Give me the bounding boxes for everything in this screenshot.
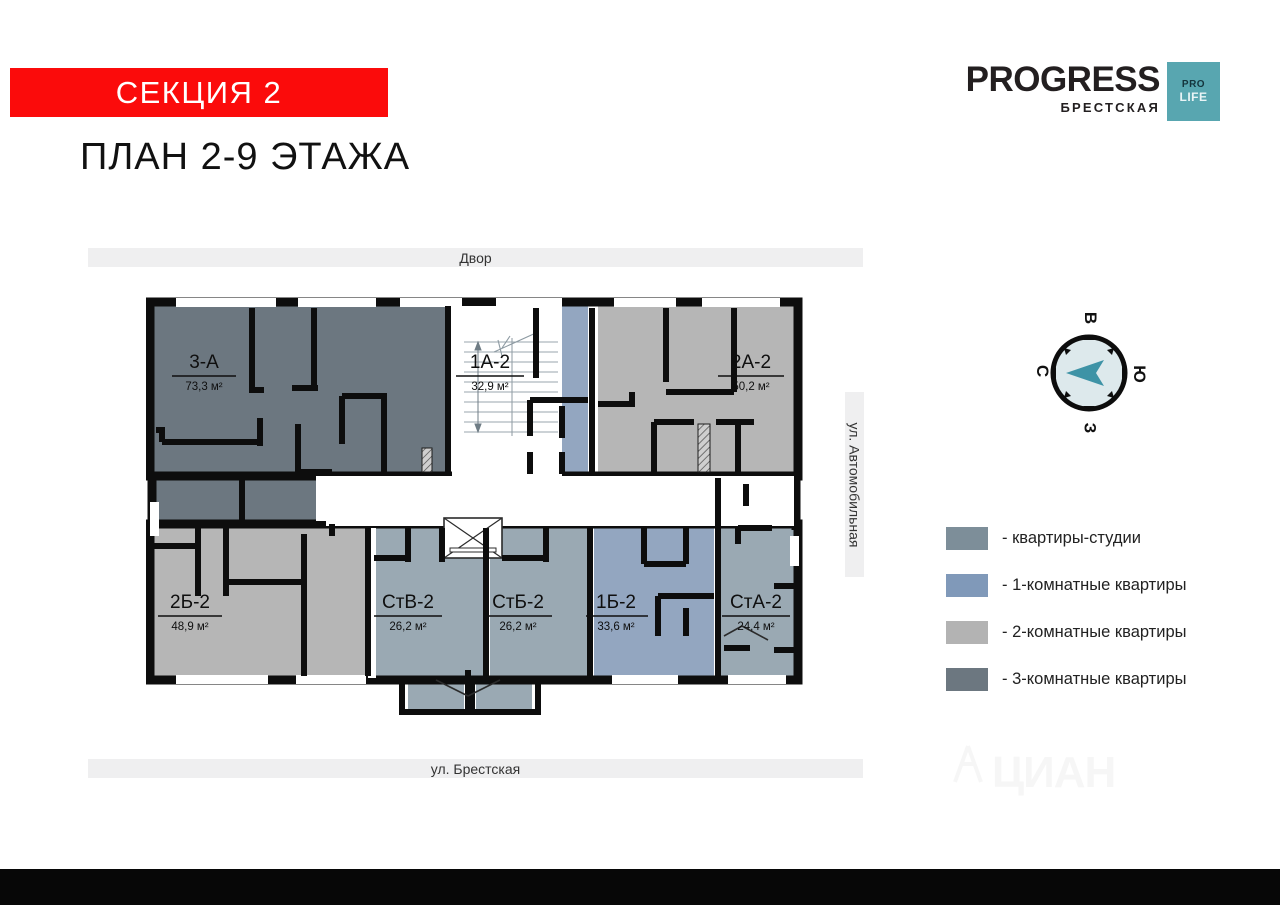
- page-title: ПЛАН 2-9 ЭТАЖА: [80, 136, 410, 179]
- brand-logo: PROGRESS БРЕСТСКАЯ PRO LIFE: [952, 62, 1220, 128]
- apartment-area-1b2: 33,6 м²: [597, 621, 634, 633]
- street-label-avtomobilnaya: ул. Автомобильная: [845, 392, 864, 577]
- bottom-bar: [0, 869, 1280, 905]
- apartment-area-2a2: 50,2 м²: [732, 381, 769, 393]
- legend-label-studio: - квартиры-студии: [1002, 529, 1141, 548]
- shaft-2a2: [698, 424, 710, 472]
- apartment-code-1a2: 1А-2: [470, 352, 510, 373]
- logo-subtitle: БРЕСТСКАЯ: [952, 100, 1160, 116]
- apartment-area-3a: 73,3 м²: [185, 381, 222, 393]
- logo-pro-life-badge: PRO LIFE: [1167, 62, 1220, 121]
- legend-swatch-studio: [946, 527, 988, 550]
- apartment-code-2a2: 2А-2: [731, 352, 771, 373]
- logo-badge-line2: LIFE: [1180, 91, 1208, 104]
- legend-swatch-three-room: [946, 668, 988, 691]
- legend-swatch-two-room: [946, 621, 988, 644]
- apartment-code-sta2: СтА-2: [730, 592, 782, 613]
- window-top-4: [496, 298, 562, 307]
- section-badge: СЕКЦИЯ 2: [10, 68, 388, 117]
- street-label-courtyard-text: Двор: [459, 250, 491, 266]
- compass-label-north: С: [1032, 365, 1052, 377]
- shaft-core: [422, 448, 432, 472]
- watermark: ЦИАН: [948, 742, 1158, 798]
- apartment-area-2b2: 48,9 м²: [171, 621, 208, 633]
- window-bot-1: [176, 675, 268, 684]
- apartment-area-sta2: 24,4 м²: [737, 621, 774, 633]
- window-bot-3: [612, 675, 678, 684]
- street-label-avtomobilnaya-text: ул. Автомобильная: [847, 422, 863, 547]
- legend-swatch-one-room: [946, 574, 988, 597]
- window-right-1: [790, 536, 799, 566]
- window-left-1: [150, 502, 159, 536]
- apartment-code-1b2: 1Б-2: [596, 592, 636, 613]
- apartment-fill-3a-b: [384, 306, 448, 472]
- window-top-5: [614, 298, 676, 307]
- floor-plan: 3-А 73,3 м² 1А-2 32,9 м² 2А-2 50,2 м² 2Б…: [146, 296, 806, 716]
- section-badge-label: СЕКЦИЯ 2: [116, 75, 283, 111]
- elevator-shaft: [444, 518, 502, 558]
- legend-item-two-room: - 2-комнатные квартиры: [946, 609, 1246, 656]
- compass-label-west: З: [1079, 423, 1099, 434]
- window-top-3: [400, 298, 462, 307]
- apartment-code-stv2: СтВ-2: [382, 592, 434, 613]
- window-top-6: [702, 298, 780, 307]
- floor-plan-svg: 3-А 73,3 м² 1А-2 32,9 м² 2А-2 50,2 м² 2Б…: [146, 296, 806, 716]
- apartment-area-stv2: 26,2 м²: [389, 621, 426, 633]
- watermark-text: ЦИАН: [992, 748, 1115, 798]
- compass-rose: В Ю З С: [1022, 306, 1157, 441]
- window-top-1: [176, 298, 276, 307]
- logo-text-block: PROGRESS БРЕСТСКАЯ: [952, 62, 1160, 116]
- apartment-area-1a2: 32,9 м²: [471, 381, 508, 393]
- street-label-brestskaya: ул. Брестская: [88, 759, 863, 778]
- compass-label-east: В: [1080, 312, 1100, 324]
- legend-label-three-room: - 3-комнатные квартиры: [1002, 670, 1187, 689]
- legend-item-one-room: - 1-комнатные квартиры: [946, 562, 1246, 609]
- apartment-code-stb2: СтБ-2: [492, 592, 544, 613]
- compass-label-south: Ю: [1129, 365, 1149, 383]
- watermark-icon: [948, 742, 988, 788]
- apartment-code-2b2: 2Б-2: [170, 592, 210, 613]
- legend-item-three-room: - 3-комнатные квартиры: [946, 656, 1246, 703]
- legend-label-two-room: - 2-комнатные квартиры: [1002, 623, 1187, 642]
- apartment-area-stb2: 26,2 м²: [499, 621, 536, 633]
- legend-label-one-room: - 1-комнатные квартиры: [1002, 576, 1187, 595]
- logo-brand: PROGRESS: [952, 62, 1160, 98]
- corridor-void: [316, 476, 794, 526]
- window-top-2: [298, 298, 376, 307]
- street-label-brestskaya-text: ул. Брестская: [431, 761, 520, 777]
- street-label-courtyard: Двор: [88, 248, 863, 267]
- window-bot-4: [728, 675, 786, 684]
- legend: - квартиры-студии - 1-комнатные квартиры…: [946, 515, 1246, 703]
- window-bot-2: [296, 675, 366, 684]
- legend-item-studio: - квартиры-студии: [946, 515, 1246, 562]
- apartment-code-3a: 3-А: [189, 352, 219, 373]
